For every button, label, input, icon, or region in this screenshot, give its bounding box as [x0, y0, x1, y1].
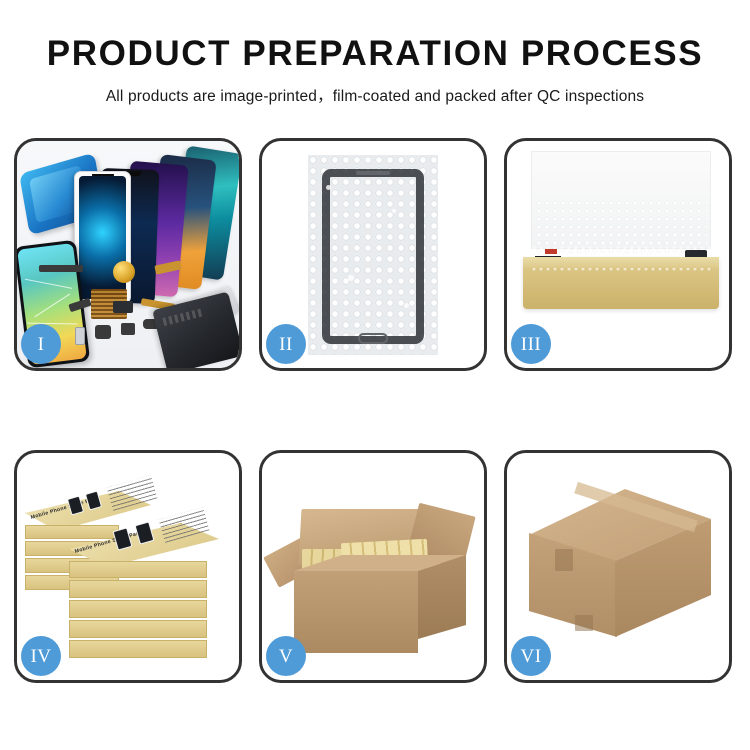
step-badge-4: IV	[21, 636, 61, 676]
step-panel-3[interactable]: III	[504, 138, 732, 371]
step-panel-2[interactable]: II	[259, 138, 487, 371]
ic-chip-icon	[113, 301, 133, 313]
sealed-carton-icon	[529, 489, 711, 649]
box-stack-icon: Mobile Phone Spare Parts Mobile Phone Sp…	[25, 475, 237, 665]
step-badge-3: III	[511, 324, 551, 364]
small-part-3-icon	[121, 323, 135, 335]
step-badge-2: II	[266, 324, 306, 364]
carton-flap-tab-2-icon	[575, 615, 593, 631]
step-badge-6: VI	[511, 636, 551, 676]
kraft-inner-box-icon	[523, 257, 719, 309]
antenna-strip-icon	[39, 265, 83, 272]
page-subtitle: All products are image-printed，film-coat…	[0, 84, 750, 106]
page-title: PRODUCT PREPARATION PROCESS	[0, 36, 750, 73]
step-panel-1[interactable]: I	[14, 138, 242, 371]
sim-tray-icon	[75, 327, 85, 345]
carton-front-face-icon	[294, 571, 418, 653]
open-carton-icon	[280, 493, 470, 653]
bubble-wrap-icon	[308, 155, 438, 355]
step-panel-5[interactable]: V	[259, 450, 487, 683]
product-preparation-process-page: PRODUCT PREPARATION PROCESS All products…	[0, 0, 750, 750]
process-step-grid: I II	[14, 138, 736, 683]
carton-flap-tab-1-icon	[555, 549, 573, 571]
home-button-icon	[358, 333, 388, 344]
small-part-2-icon	[95, 325, 111, 339]
step-badge-5: V	[266, 636, 306, 676]
step-panel-6[interactable]: VI	[504, 450, 732, 683]
phone-front-glass-icon	[322, 169, 424, 344]
phone-white-icon	[74, 171, 131, 304]
header: PRODUCT PREPARATION PROCESS All products…	[0, 0, 750, 106]
step-badge-1: I	[21, 324, 61, 364]
vibration-motor-icon	[113, 261, 135, 283]
step-panel-4[interactable]: Mobile Phone Spare Parts Mobile Phone Sp…	[14, 450, 242, 683]
